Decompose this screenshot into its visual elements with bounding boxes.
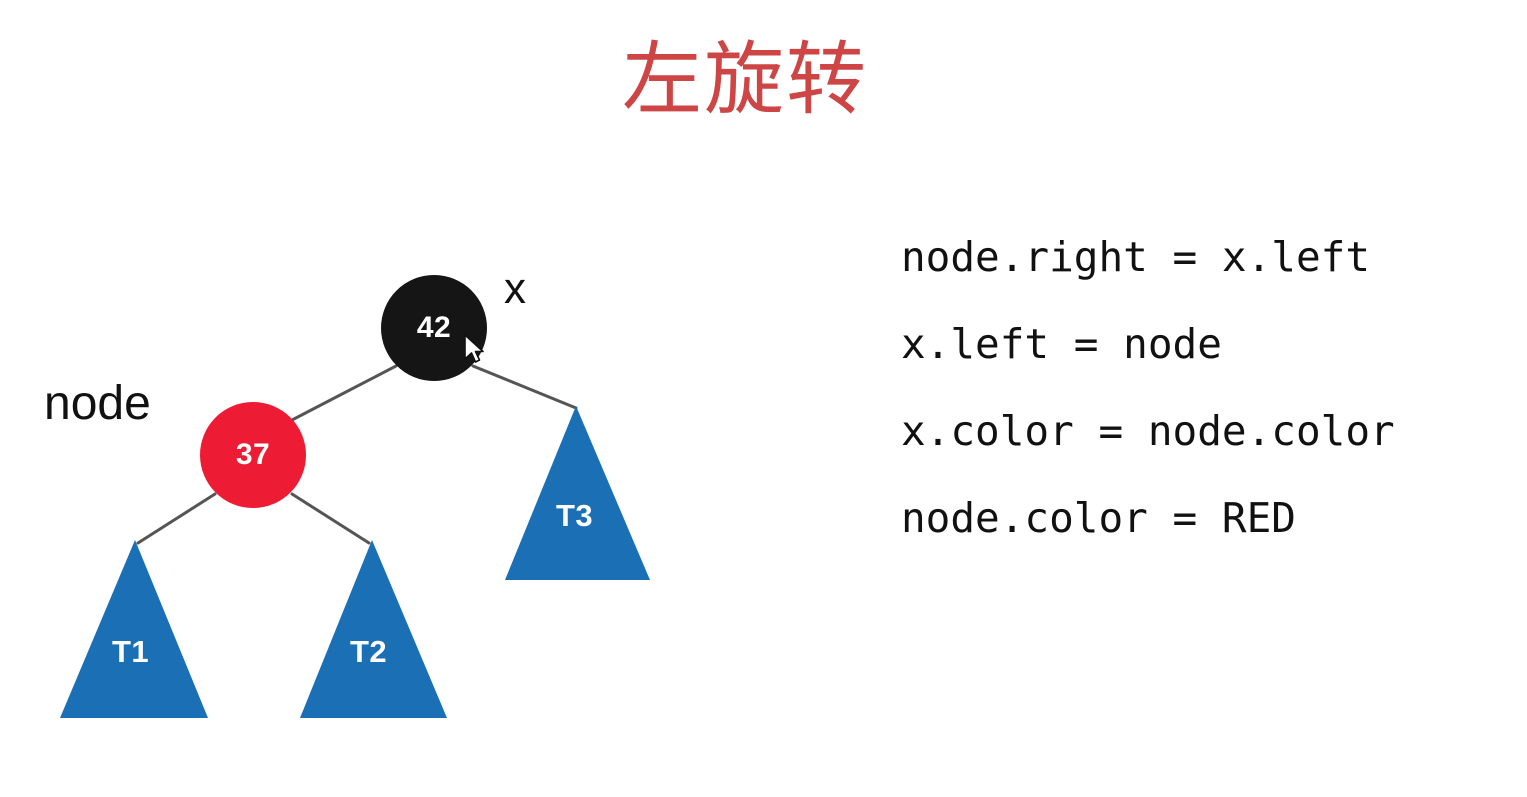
tree-node-42[interactable]: 42 [381,275,487,381]
subtree-triangle-t2 [300,540,447,718]
code-line-1: node.right = x.left [901,214,1501,301]
subtree-triangles [60,406,650,718]
code-line-3: x.color = node.color [901,388,1501,475]
edge-37-to-t2 [292,494,369,543]
subtree-triangle-t3 [505,406,650,580]
subtree-label-t2: T2 [350,634,387,670]
edge-42-to-37 [292,366,396,420]
tree-node-37[interactable]: 37 [200,402,306,508]
annotation-label-node: node [44,377,151,431]
code-line-2: x.left = node [901,301,1501,388]
tree-diagram: 42 37 T1 T2 T3 x node [0,0,760,797]
edge-42-to-t3 [473,366,576,408]
edge-37-to-t1 [138,494,215,543]
slide-canvas: 左旋转 42 37 T1 T2 T3 x node [0,0,1527,797]
code-line-4: node.color = RED [901,475,1501,562]
subtree-triangle-t1 [60,540,208,718]
annotation-label-x: x [504,265,526,313]
subtree-label-t1: T1 [112,634,149,670]
code-block: node.right = x.left x.left = node x.colo… [901,214,1501,562]
subtree-label-t3: T3 [556,498,593,534]
